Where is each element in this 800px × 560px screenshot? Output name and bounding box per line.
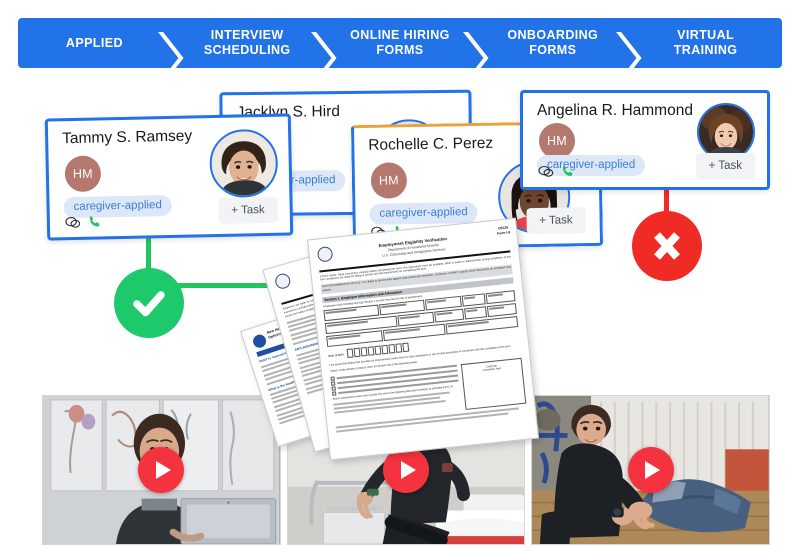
hiring-pipeline-bar: APPLIED INTERVIEW SCHEDULING ONLINE HIRI… [18,18,782,68]
phone-icon[interactable] [88,214,102,228]
candidate-name: Rochelle C. Perez [368,135,493,155]
add-task-button[interactable]: + Task [526,207,586,234]
pipeline-stage-label: ONLINE HIRING FORMS [350,28,450,58]
pipeline-stage-online-hiring-forms[interactable]: ONLINE HIRING FORMS [324,18,477,68]
hm-avatar: HM [65,155,102,192]
pipeline-stage-label: VIRTUAL TRAINING [674,28,738,58]
hm-avatar: HM [371,162,408,199]
pipeline-stage-label: APPLIED [66,36,123,51]
pipeline-stage-applied[interactable]: APPLIED [18,18,171,68]
document-corner-label: USCIS Form I-9 [496,225,510,237]
status-badge: caregiver-applied [369,202,478,225]
play-icon[interactable] [628,447,674,493]
pipeline-stage-virtual-training[interactable]: VIRTUAL TRAINING [629,18,782,68]
document-side-label: Employer Completes Next [462,359,522,374]
card-action-icons[interactable] [538,164,575,178]
rejected-status-badge [632,211,702,281]
candidate-name: Angelina R. Hammond [537,102,693,120]
approved-status-badge [114,268,184,338]
training-video-3[interactable] [531,395,770,545]
x-mark-icon [645,224,689,268]
card-action-icons[interactable] [65,214,102,229]
qr-code-placeholder: Employer Completes Next [461,358,527,410]
add-task-button[interactable]: + Task [696,153,755,179]
pipeline-stage-interview-scheduling[interactable]: INTERVIEW SCHEDULING [171,18,324,68]
chat-bubble-icon[interactable] [538,165,554,178]
candidate-board: Jacklyn S. Hird HM caregiver-applied [0,68,800,390]
candidate-card-ramsey[interactable]: Tammy S. Ramsey HM caregiver-applied [45,113,294,240]
pipeline-stage-label: INTERVIEW SCHEDULING [204,28,291,58]
candidate-name: Tammy S. Ramsey [62,128,192,149]
hm-avatar: HM [539,123,575,159]
phone-icon[interactable] [561,164,575,178]
document-form-i9[interactable]: USCIS Form I-9 Employment Eligibility Ve… [307,218,539,461]
pipeline-stage-label: ONBOARDING FORMS [507,28,598,58]
candidate-card-hammond[interactable]: Angelina R. Hammond HM caregiver-applied [520,90,770,190]
add-task-button[interactable]: + Task [218,197,278,224]
training-video-1[interactable] [42,395,281,545]
pipeline-stage-onboarding-forms[interactable]: ONBOARDING FORMS [476,18,629,68]
chat-bubble-icon[interactable] [65,215,81,228]
checkmark-icon [127,281,171,325]
play-icon[interactable] [138,447,184,493]
avatar [209,129,278,198]
